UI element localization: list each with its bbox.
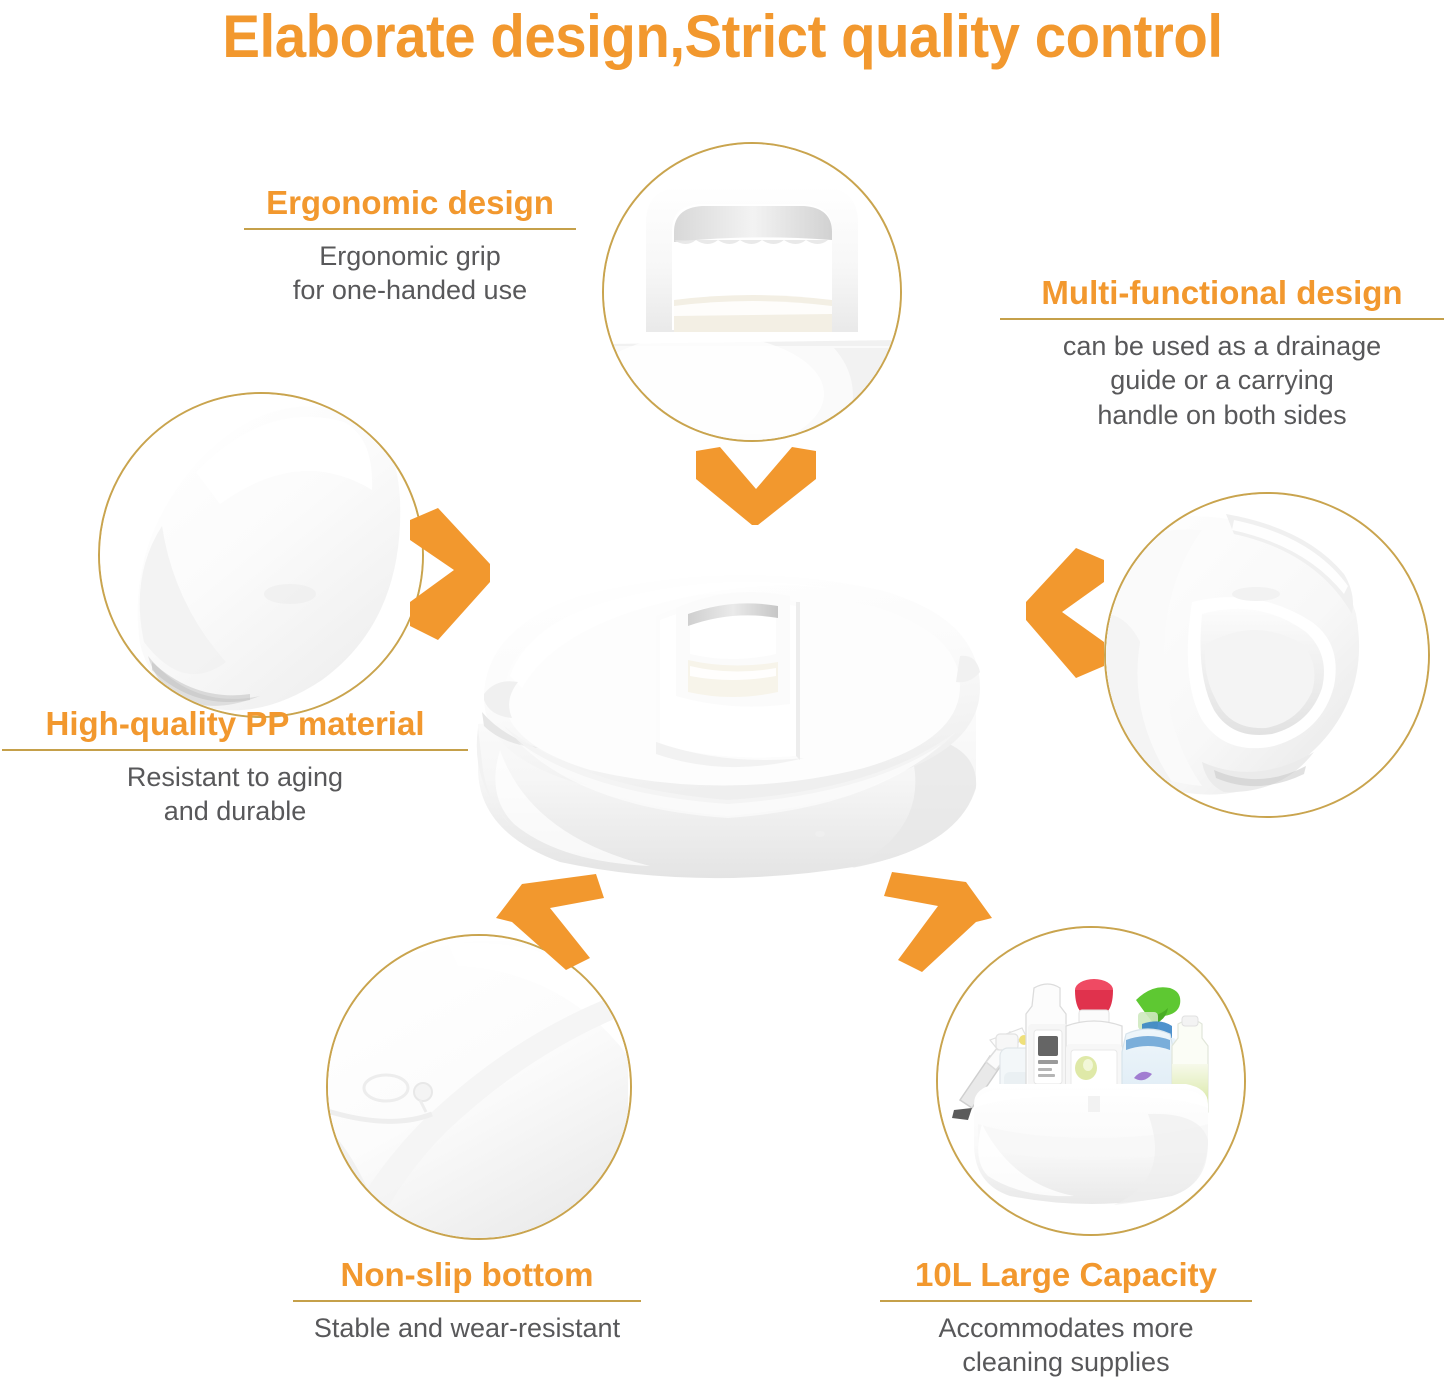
callout-title-non-slip-bottom: Non-slip bottom	[293, 1258, 641, 1300]
callout-ergonomic-design: Ergonomic design Ergonomic grip for one-…	[244, 186, 576, 308]
callout-pp-material: High-quality PP material Resistant to ag…	[2, 707, 468, 829]
callout-body-multi-functional: can be used as a drainage guide or a car…	[1000, 329, 1444, 433]
page-title: Elaborate design,Strict quality control	[43, 2, 1401, 71]
callout-title-pp-material: High-quality PP material	[2, 707, 468, 749]
white-oval-cleaning-caddy-illustration	[460, 536, 1030, 892]
arrow-top-chevron-icon	[690, 445, 822, 529]
callout-rule-pp-material	[2, 749, 468, 751]
callout-large-capacity: 10L Large Capacity Accommodates more cle…	[880, 1258, 1252, 1380]
pp-shell-closeup-photo	[98, 392, 424, 718]
handle-closeup-photo	[602, 142, 902, 442]
callout-non-slip-bottom: Non-slip bottom Stable and wear-resistan…	[293, 1258, 641, 1345]
pp-shell-illustration	[100, 394, 422, 716]
arrow-left-chevron-icon	[404, 498, 496, 646]
callout-rule-ergonomic	[244, 228, 576, 230]
callout-title-multi-functional: Multi-functional design	[1000, 276, 1444, 318]
callout-body-non-slip-bottom: Stable and wear-resistant	[293, 1311, 641, 1346]
arrow-right-chevron-icon	[1022, 540, 1110, 684]
callout-rule-non-slip-bottom	[293, 1300, 641, 1302]
callout-body-pp-material: Resistant to aging and durable	[2, 760, 468, 829]
callout-body-ergonomic: Ergonomic grip for one-handed use	[244, 239, 576, 308]
callout-rule-multi-functional	[1000, 318, 1444, 320]
arrow-bottom-left-chevron-icon	[478, 862, 610, 970]
center-product-photo	[460, 536, 1030, 892]
arrow-bottom-right-chevron-icon	[878, 862, 1010, 974]
non-slip-bottom-closeup-photo	[326, 934, 632, 1240]
handle-closeup-illustration	[604, 144, 900, 440]
non-slip-bottom-illustration	[328, 936, 630, 1238]
infographic-canvas: Elaborate design,Strict quality control	[0, 0, 1445, 1392]
callout-body-large-capacity: Accommodates more cleaning supplies	[880, 1311, 1252, 1380]
pour-spout-illustration	[1106, 494, 1428, 816]
callout-title-large-capacity: 10L Large Capacity	[880, 1258, 1252, 1300]
callout-title-ergonomic: Ergonomic design	[244, 186, 576, 228]
callout-rule-large-capacity	[880, 1300, 1252, 1302]
caddy-body	[974, 1084, 1208, 1205]
pour-spout-closeup-photo	[1104, 492, 1430, 818]
callout-multi-functional-design: Multi-functional design can be used as a…	[1000, 276, 1444, 432]
